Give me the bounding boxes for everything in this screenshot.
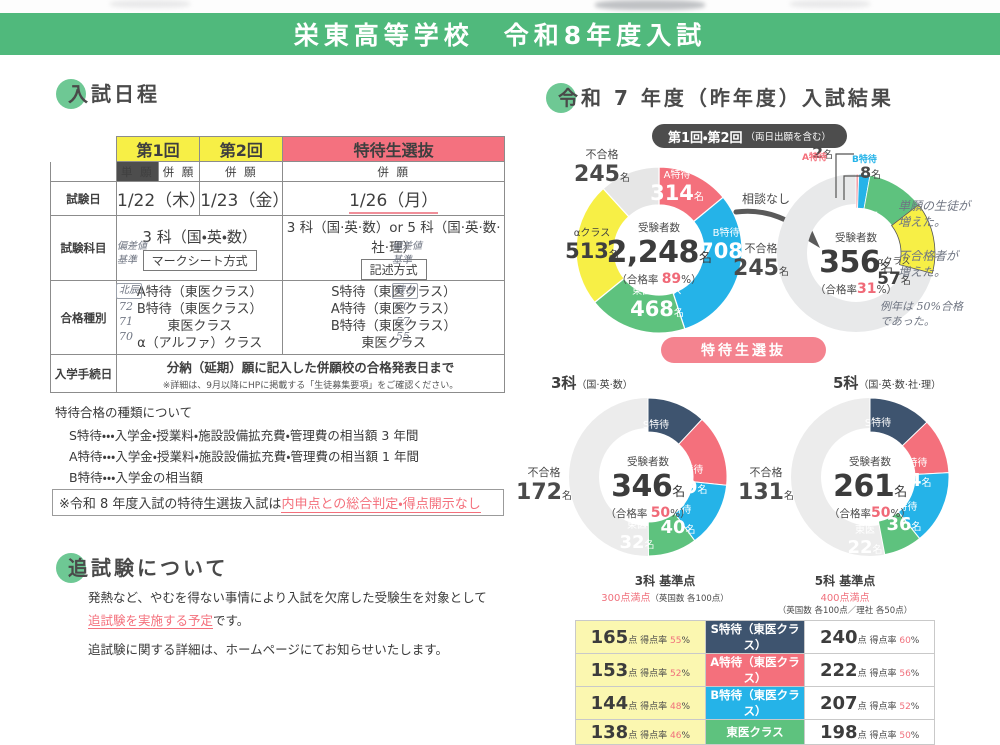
section-heading-results: 令和 7 年度（昨年度）入試結果 (552, 82, 894, 111)
score-criteria-section: 3科 基準点 300点満点（英国数 各100点） 5科 基準点 400点満点（英… (575, 572, 935, 745)
kind-left-2: 東医クラス (117, 318, 282, 335)
scan-edge (0, 0, 1000, 13)
kind-right-1: A特待（東医クラス） (283, 301, 504, 318)
col-header-round2: 第2回 (200, 137, 283, 162)
handwriting-hensachi-left: 偏差値 基準 (117, 240, 147, 267)
donut-tokutai-center: 受験者数 356名 （合格率31%） (802, 230, 910, 297)
handwriting-score-right-0: 60 (396, 300, 410, 315)
notes-item-a: A特待・・・入学金・授業料・施設設備拡充費・管理費の相当額 1 年間 (55, 446, 419, 467)
chart-title-5subject: 5科（国·英·数·社·理） (833, 372, 941, 393)
exam-date-round2: 1/23（金） (200, 182, 283, 216)
rowlabel-subjects: 試験科目 (51, 216, 117, 281)
retest-line1: 発熱など、やむを得ない事情により入試を欠席した受験生を対象として (88, 586, 487, 609)
score-head-3-sub: 300点満点（英国数 各100点） (575, 589, 755, 604)
procedure-note: ※詳細は、9月以降にHPに掲載する「生徒募集要項」をご確認ください。 (117, 378, 504, 391)
donut-5s-label-fail: 不合格 131名 (734, 464, 798, 505)
score-5-s: 240点 得点率 60% (805, 621, 935, 654)
table-row: 153点 得点率 52% A特待（東医クラス） 222点 得点率 56% (576, 654, 935, 687)
callout-a-tokutai-name: A特待 (802, 150, 827, 163)
procedure-cell: 分納（延期）願に記入した併願校の合格発表日まで ※詳細は、9月以降にHPに掲載す… (117, 355, 505, 393)
score-head-3: 3科 基準点 300点満点（英国数 各100点） (575, 572, 755, 616)
page-banner: 栄東高等学校 令和8年度入試 (0, 13, 1000, 55)
handwriting-score-left-2: 70 (119, 330, 133, 345)
warning-box: ※令和 8 年度入試の特待生選抜入試は 内申点との総合判定・得点開示なし (52, 489, 504, 516)
rowlabel-procedure: 入学手続日 (51, 355, 117, 393)
score-3-toi: 138点 得点率 46% (576, 720, 706, 745)
handwriting-score-left-1: 71 (119, 315, 133, 330)
donut-5s-value-fail: 131名 (738, 480, 794, 505)
donut-chart-5subject: S特待 38名 A特待 34名 B特待 36名 東医 22名 不合格 131名 … (782, 392, 957, 562)
score-5-a: 222点 得点率 56% (805, 654, 935, 687)
donut-tokutai-rate: （合格率31%） (802, 281, 910, 297)
table-header-row: 第1回 第2回 特待生選抜 (51, 137, 505, 162)
col-header-round1: 第1回 (117, 137, 200, 162)
score-criteria-headers: 3科 基準点 300点満点（英国数 各100点） 5科 基準点 400点満点（英… (575, 572, 935, 616)
notes-item-s: S特待・・・入学金・授業料・施設設備拡充費・管理費の相当額 3 年間 (55, 425, 419, 446)
donut-3s-total: 346名 (611, 469, 685, 504)
donut-3s-center: 受験者数 346名 （合格率 50%） (593, 454, 703, 521)
handwriting-note1: 単願の生徒が 増えた。 (898, 198, 970, 230)
handwriting-note2: 不合格者が 増えた。 (898, 248, 958, 280)
table-subheader-row: 単 願 併 願 併 願 併 願 (51, 162, 505, 182)
warning-highlight: 内申点との総合判定・得点開示なし (281, 493, 480, 513)
donut-tokutai-label-fail: 不合格 245名 (728, 240, 794, 281)
procedure-main: 分納（延期）願に記入した併願校の合格発表日まで (167, 360, 455, 375)
donut-3s-label-fail: 不合格 172名 (512, 464, 576, 505)
table-row-exam-date: 試験日 1/22（木） 1/23（金） 1/26（月） (51, 182, 505, 216)
badge-tokutai: 特待生選抜 (661, 337, 826, 363)
table-row: 165点 得点率 55% S特待（東医クラス） 240点 得点率 60% (576, 621, 935, 654)
badge-tokutai-label: 特待生選抜 (701, 340, 786, 360)
kind-right-2: B特待（東医クラス） (283, 318, 504, 335)
col-header-tokutai: 特待生選抜 (283, 137, 505, 162)
retest-line2-tail: です。 (213, 613, 249, 628)
subheader-heigan-2: 併 願 (200, 162, 283, 182)
rowlabel-kinds: 合格種別 (51, 281, 117, 355)
donut-5s-rate: （合格率50%） (815, 505, 925, 521)
table-row-procedure: 入学手続日 分納（延期）願に記入した併願校の合格発表日まで ※詳細は、9月以降に… (51, 355, 505, 393)
score-5-toi: 198点 得点率 50% (805, 720, 935, 745)
score-kind-toi: 東医クラス (705, 720, 805, 745)
handwriting-hensachi-right: 偏差値 基準 (392, 240, 422, 267)
badge-rounds-sub: （両日出願を含む） (746, 129, 832, 143)
donut-main-label-fail: 不合格 245名 (568, 146, 636, 187)
donut-tokutai-total: 356名 (819, 245, 893, 280)
handwriting-score-right-1: 57 (396, 315, 410, 330)
subheader-heigan-3: 併 願 (283, 162, 505, 182)
section-label-results: 令和 7 年度（昨年度）入試結果 (552, 82, 894, 111)
retest-line2: 追試験を実施する予定です。 (88, 609, 487, 632)
tokutai-kinds-notes: 特待合格の種類について S特待・・・入学金・授業料・施設設備拡充費・管理費の相当… (55, 402, 419, 488)
donut-5s-total: 261名 (833, 469, 907, 504)
score-head-5-sub: 400点満点（英国数 各100点／理社 各50点） (755, 589, 935, 616)
donut-main-rate: （合格率 89%） (604, 271, 714, 287)
kind-left-1: B特待（東医クラス） (117, 301, 282, 318)
donut-main-center: 受験者数 2,248名 （合格率 89%） (604, 220, 714, 287)
section-label-retest: 追試験について (62, 552, 228, 581)
donut-chart-3subject: S特待 53名 A特待 49名 B特待 40名 東医 32名 不合格 172名 … (560, 392, 735, 562)
subheader-tangan: 単 願 (117, 162, 159, 182)
exam-date-round1: 1/22（木） (117, 182, 200, 216)
score-3-s: 165点 得点率 55% (576, 621, 706, 654)
handwriting-hokushin: 北辰 (116, 283, 142, 299)
warning-prefix: ※令和 8 年度入試の特待生選抜入試は (59, 493, 281, 512)
flyer-page: 栄東高等学校 令和8年度入試 入試日程 第1回 第2回 特待生選抜 単 願 併 … (0, 0, 1000, 707)
score-kind-a: A特待（東医クラス） (705, 654, 805, 687)
score-kind-s: S特待（東医クラス） (705, 621, 805, 654)
chart-title-3subject: 3科（国·英·数） (551, 372, 633, 393)
score-5-b: 207点 得点率 52% (805, 687, 935, 720)
section-label-schedule: 入試日程 (62, 78, 160, 107)
handwriting-sundai: 駿台 (392, 283, 418, 299)
score-criteria-table: 165点 得点率 55% S特待（東医クラス） 240点 得点率 60% 153… (575, 620, 935, 745)
handwriting-score-left-0: 72 (119, 300, 133, 315)
score-head-5: 5科 基準点 400点満点（英国数 各100点／理社 各50点） (755, 572, 935, 616)
table-row: 138点 得点率 46% 東医クラス 198点 得点率 50% (576, 720, 935, 745)
score-kind-b: B特待（東医クラス） (705, 687, 805, 720)
rowlabel-exam-date: 試験日 (51, 182, 117, 216)
donut-5s-center: 受験者数 261名 （合格率50%） (815, 454, 925, 521)
notes-item-b: B特待・・・入学金の相当額 (55, 467, 419, 488)
section-heading-schedule: 入試日程 (62, 78, 160, 107)
subheader-heigan-1: 併 願 (158, 162, 200, 182)
retest-body: 発熱など、やむを得ない事情により入試を欠席した受験生を対象として 追試験を実施す… (88, 586, 487, 661)
score-3-b: 144点 得点率 48% (576, 687, 706, 720)
kind-left-3: α（アルファ）クラス (117, 335, 282, 352)
handwriting-score-right-2: 55 (396, 330, 410, 345)
donut-3s-value-fail: 172名 (516, 480, 572, 505)
kind-right-3: 東医クラス (283, 335, 504, 352)
callout-b-tokutai: 8名 (860, 163, 881, 182)
donut-tokutai-value-fail: 245名 (733, 256, 789, 281)
subjects-left-method: マークシート方式 (143, 250, 257, 271)
exam-date-tokutai: 1/26（月） (283, 182, 505, 216)
donut-main-value-fail: 245名 (574, 162, 630, 187)
score-3-a: 153点 得点率 52% (576, 654, 706, 687)
arrow-note-label: 相談なし (742, 190, 790, 207)
donut-3s-rate: （合格率 50%） (593, 505, 703, 521)
retest-line2-red: 追試験を実施する予定 (88, 613, 213, 629)
table-row: 144点 得点率 48% B特待（東医クラス） 207点 得点率 52% (576, 687, 935, 720)
page-title: 栄東高等学校 令和8年度入試 (294, 16, 706, 52)
donut-main-total: 2,248名 (607, 235, 712, 270)
notes-title: 特待合格の種類について (55, 402, 419, 423)
handwriting-note3: 例年は 50%合格 であった。 (880, 300, 963, 330)
retest-line3: 追試験に関する詳細は、ホームページにてお知らせいたします。 (88, 638, 487, 661)
badge-rounds-label: 第1回・第2回 (668, 127, 743, 146)
section-heading-retest: 追試験について (62, 552, 228, 581)
